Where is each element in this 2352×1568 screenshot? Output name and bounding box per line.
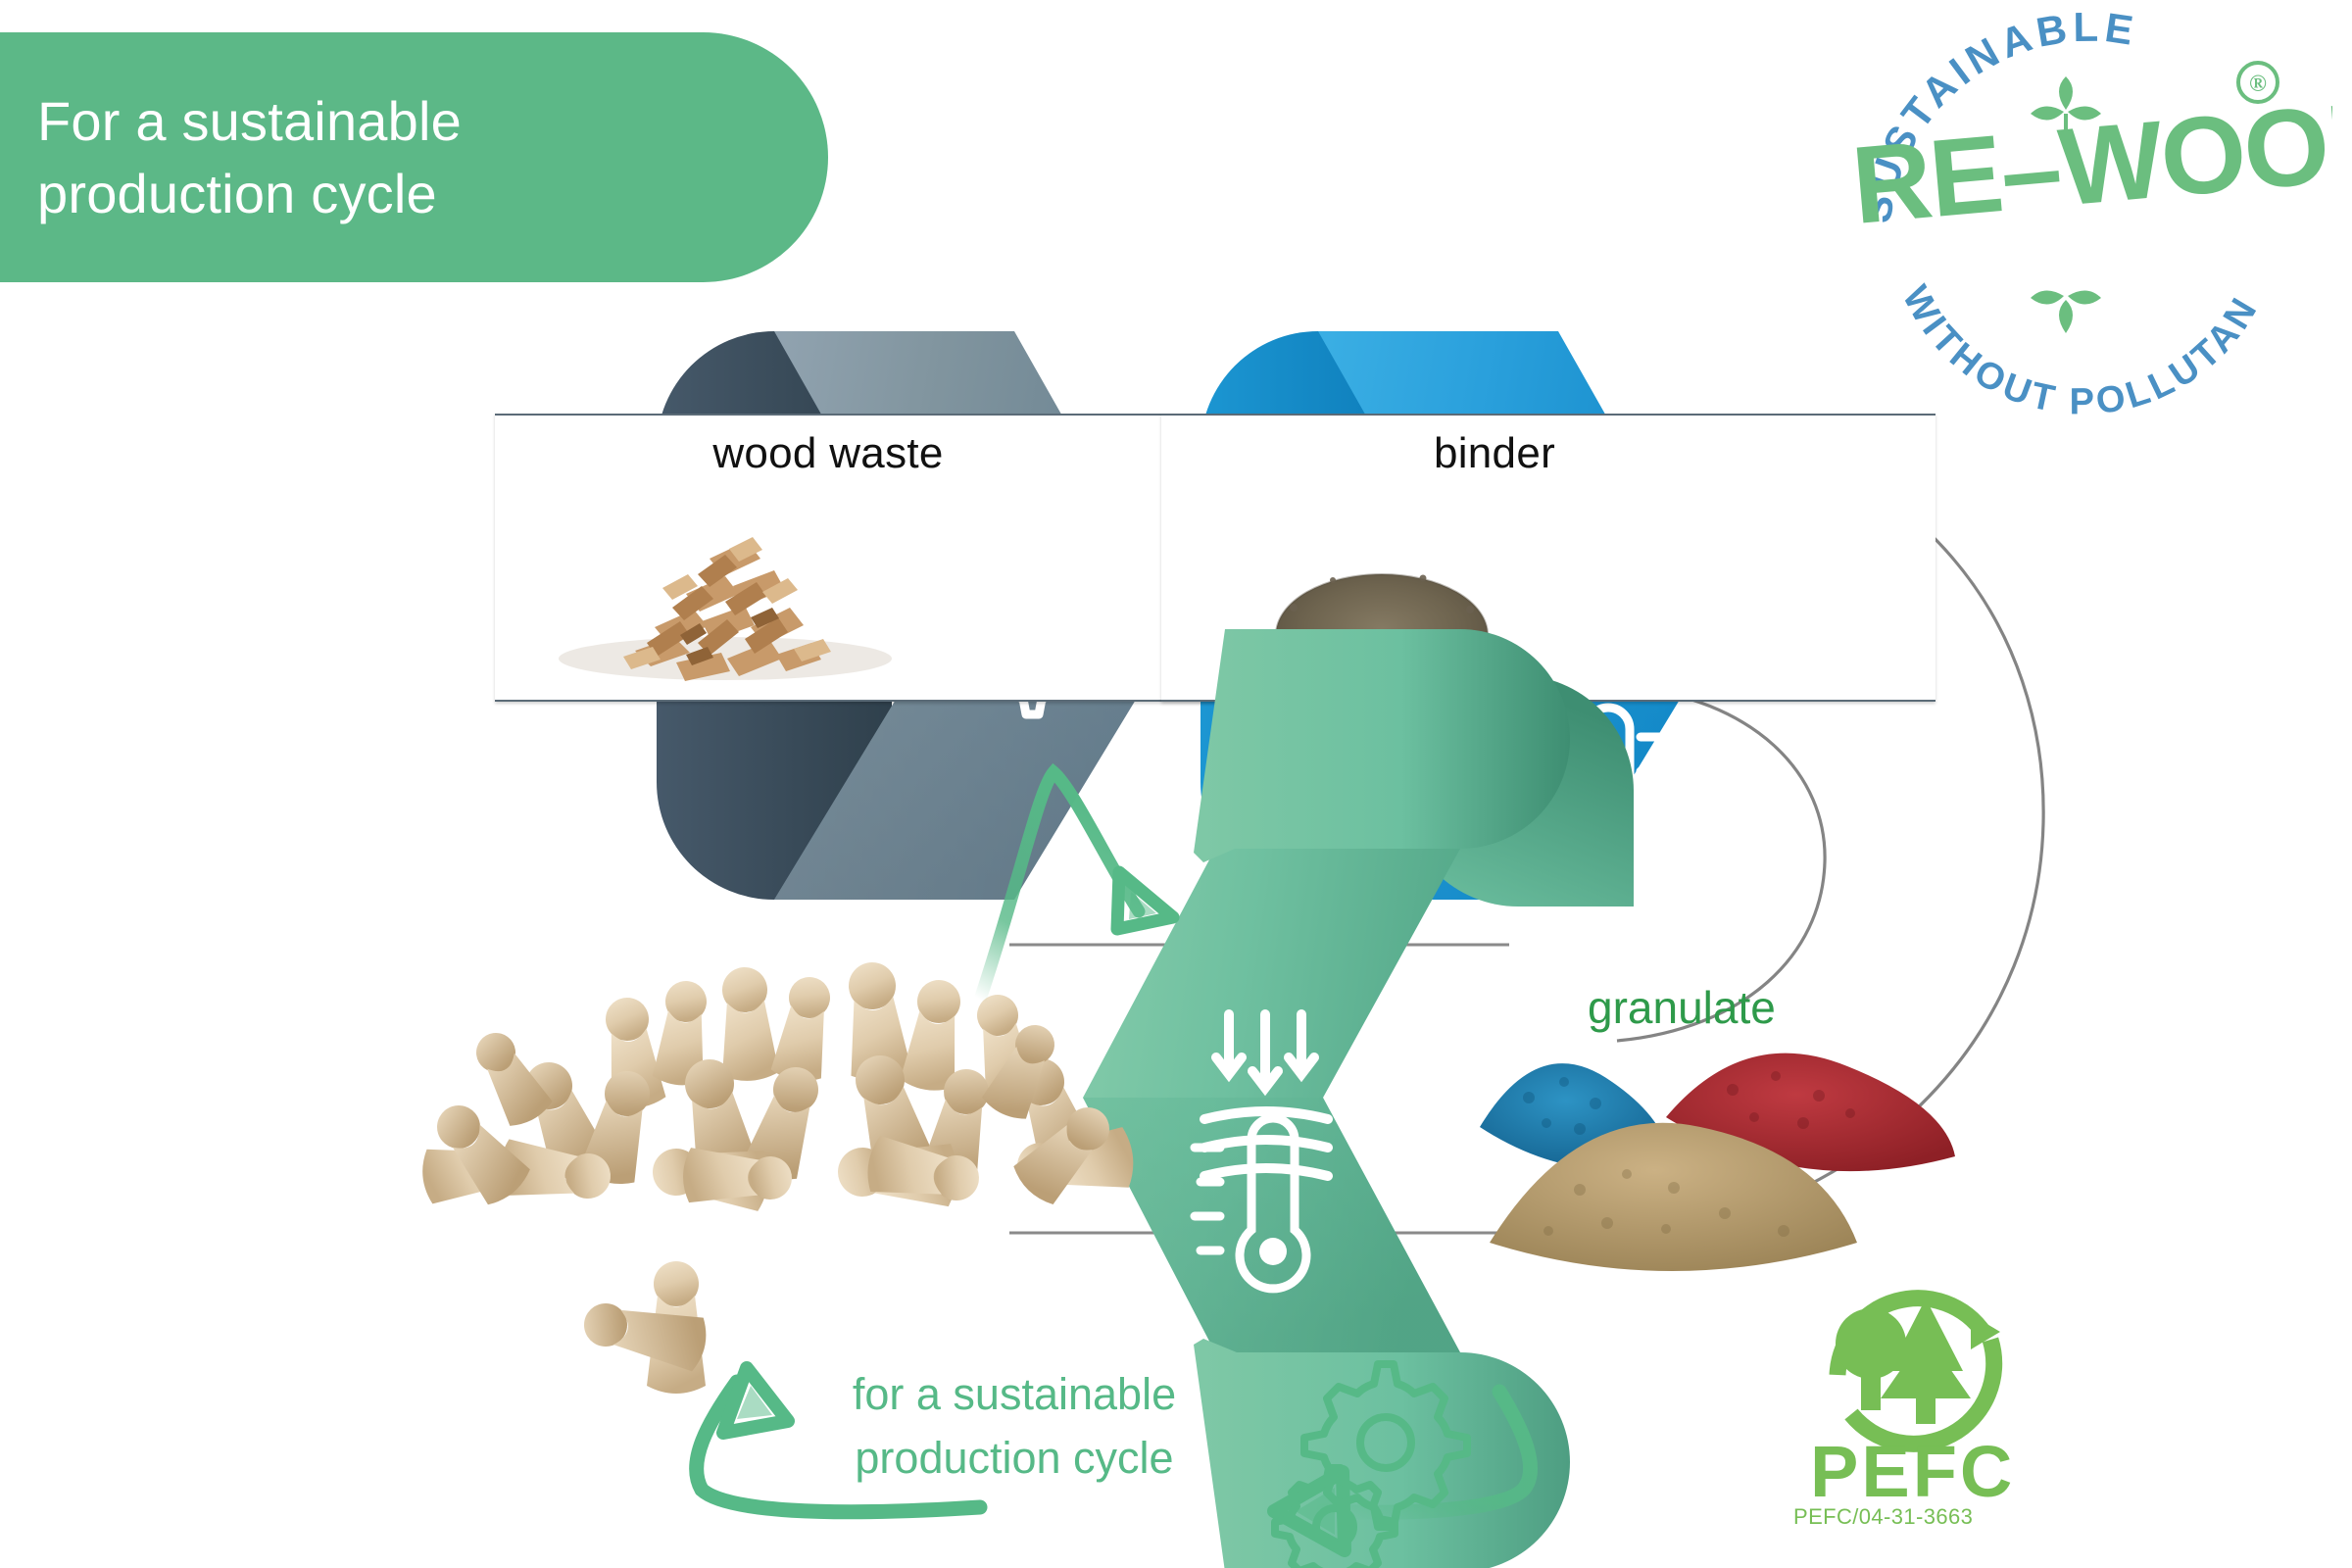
title-line-1: For a sustainable [37, 85, 828, 158]
pefc-wordmark: PEFC [1810, 1431, 2015, 1512]
title-banner: For a sustainable production cycle [0, 32, 828, 282]
rewood-logo: SUSTAINABLE WITHOUT POLLUTANTS RE–WOOD [1842, 0, 2332, 431]
registered-mark: ® [2238, 63, 2278, 102]
label-binder: binder [1161, 429, 1828, 478]
loose-pawns [579, 1261, 710, 1394]
label-granulate: granulate [1588, 980, 1779, 1037]
svg-text:®: ® [2249, 72, 2267, 97]
cycle-caption: for a sustainable production cycle [804, 1362, 1225, 1491]
cycle-caption-line-1: for a sustainable [804, 1362, 1225, 1426]
label-wood-waste: wood waste [495, 429, 1161, 478]
title-line-2: production cycle [37, 158, 828, 230]
pefc-logo: PEFC [1798, 1249, 2063, 1543]
pefc-certificate-code: PEFC/04-31-3663 [1793, 1504, 2078, 1530]
infographic-canvas: For a sustainable production cycle [0, 0, 2352, 1568]
leaf-sprout-icon-bottom [2031, 290, 2101, 333]
arrow-down-right-icon [980, 772, 1173, 1000]
cycle-caption-line-2: production cycle [804, 1426, 1225, 1490]
arrow-left-icon [1274, 1392, 1531, 1550]
